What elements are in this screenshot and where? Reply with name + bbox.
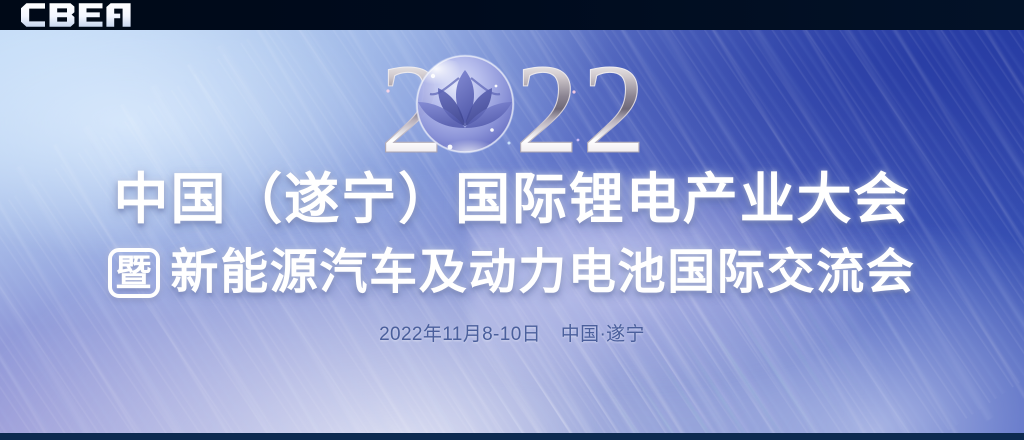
page-title-line-1: 中国（遂宁）国际锂电产业大会 bbox=[0, 172, 1024, 232]
cbea-wordmark-logo[interactable] bbox=[18, 2, 138, 28]
svg-text:2: 2 bbox=[582, 48, 646, 173]
event-date-location: 2022年11月8-10日 中国·遂宁 bbox=[0, 319, 1024, 346]
year-digit-2-second: 2 bbox=[515, 48, 579, 173]
page-title-line-2: 暨 新能源汽车及动力电池国际交流会 bbox=[0, 246, 1024, 300]
event-location: 中国·遂宁 bbox=[561, 324, 645, 345]
svg-text:2: 2 bbox=[515, 48, 579, 173]
event-date: 2022年11月8-10日 bbox=[379, 324, 541, 345]
conference-banner: 2 2 2 bbox=[0, 0, 1024, 440]
year-digit-2-third: 2 bbox=[582, 48, 646, 173]
page-title-line-2-text: 新能源汽车及动力电池国际交流会 bbox=[170, 249, 915, 297]
banner-titles: 中国（遂宁）国际锂电产业大会 暨 新能源汽车及动力电池国际交流会 bbox=[0, 172, 1024, 300]
bottom-rule bbox=[0, 433, 1024, 440]
ji-badge: 暨 bbox=[108, 248, 160, 298]
year-graphic-2022: 2 2 2 bbox=[0, 48, 1024, 173]
top-bar bbox=[0, 0, 1024, 30]
